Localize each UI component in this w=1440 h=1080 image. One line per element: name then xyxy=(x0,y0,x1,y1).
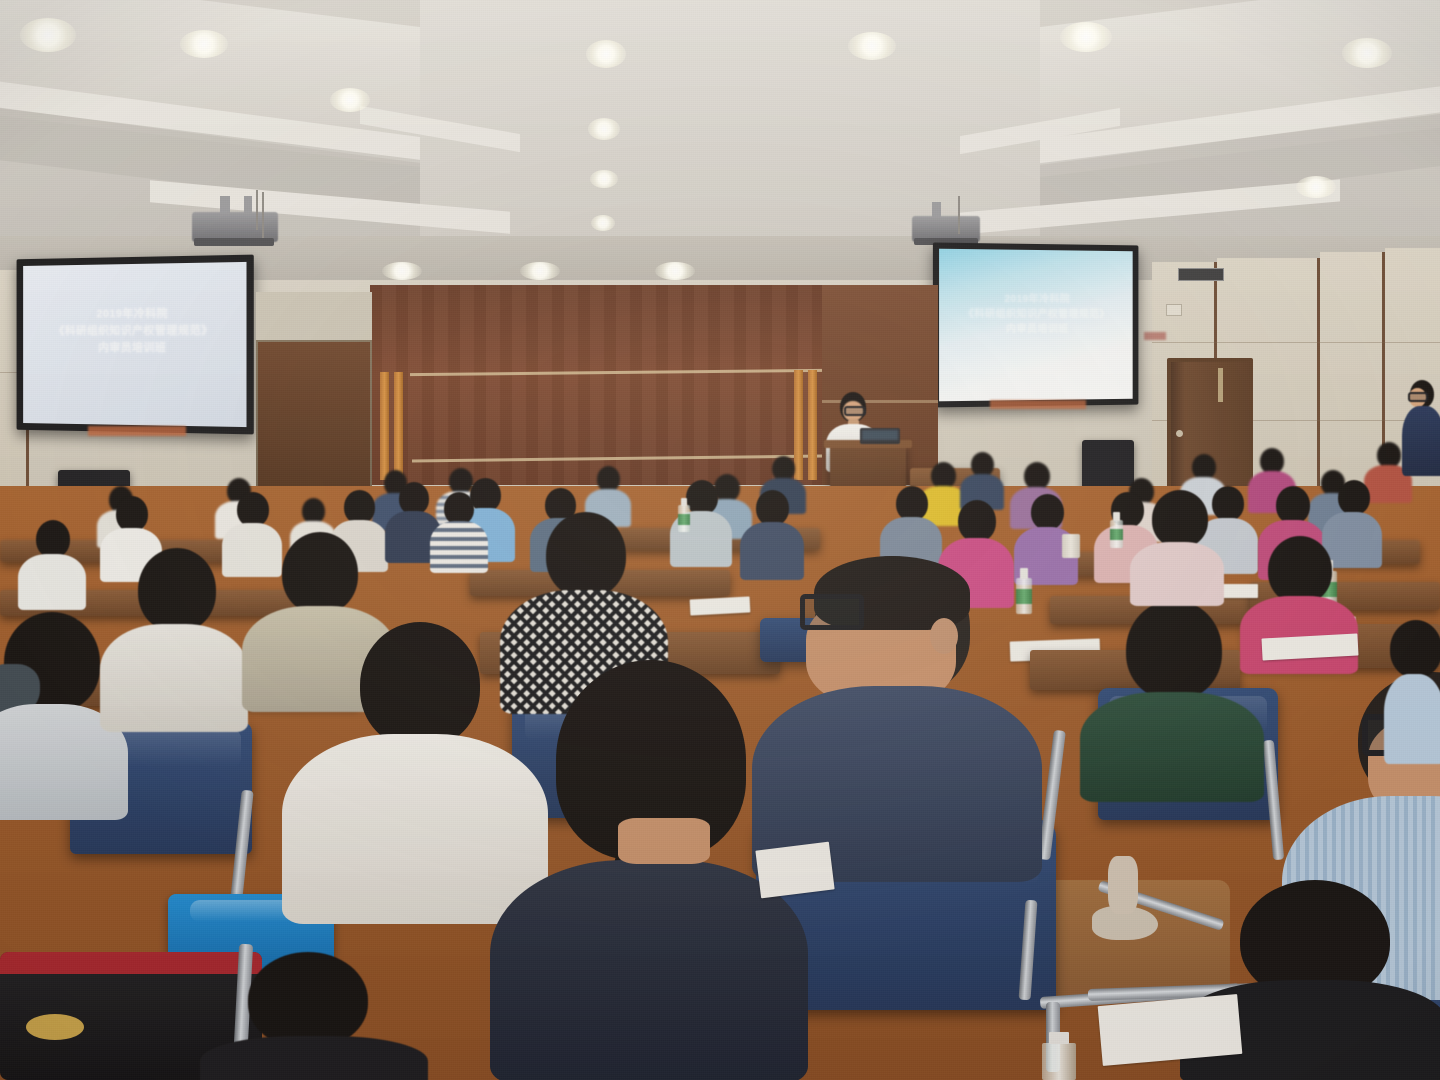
door-jamb-light xyxy=(1218,368,1223,402)
downlight-2 xyxy=(180,30,228,58)
attendee-n8-head xyxy=(1126,600,1222,700)
screen-right-orange-strip xyxy=(990,400,1086,409)
attendee-m17-head xyxy=(1338,480,1370,515)
wall-line-r1 xyxy=(1152,342,1440,343)
bottle-cap xyxy=(1049,1032,1068,1044)
stage-accent-column-left-a xyxy=(380,372,389,480)
attendee-n2-khaki xyxy=(100,548,250,728)
screen-right-line3: 内审员培训班 xyxy=(939,324,1133,337)
paper-foreground-left xyxy=(755,842,834,899)
attendee-m1 xyxy=(18,520,88,606)
attendee-m2-head xyxy=(116,496,148,532)
stage-accent-column-right-b xyxy=(808,370,817,480)
paper-foreground-right xyxy=(1098,994,1243,1066)
attendee-m7-body xyxy=(430,521,488,573)
bottle-cap xyxy=(1113,512,1120,521)
attendee-n8-green-right xyxy=(1080,600,1266,790)
attendee-m10-head xyxy=(756,490,789,526)
attendee-m13-head xyxy=(1031,494,1064,530)
attendee-m3-head xyxy=(237,492,269,527)
water-bottle-1 xyxy=(678,498,690,532)
attendee-m1-head xyxy=(36,520,70,558)
attendee-m4-head xyxy=(344,490,375,524)
projection-screen-left: 2019年冷科院 《科研组织知识产权管理规范》 内审员培训班 xyxy=(23,262,246,427)
door-knob-icon xyxy=(1176,430,1183,437)
screen-right-line2: 《科研组织知识产权管理规范》 xyxy=(939,309,1133,322)
attendee-n12-darkleft-bottom xyxy=(200,952,430,1080)
water-bottle-foreground xyxy=(1042,1032,1076,1080)
wall-left-of-stage-upper xyxy=(256,292,372,340)
attendee-n5-head xyxy=(360,622,480,748)
attendee-n12-head xyxy=(248,952,368,1048)
downlight-7 xyxy=(586,40,626,68)
screen-left-orange-strip xyxy=(88,426,186,436)
attendee-m9-head xyxy=(686,480,718,515)
attendee-n3-head xyxy=(282,532,358,614)
stage-left-dark-panel xyxy=(258,342,370,492)
attendee-n7-ear xyxy=(930,618,958,654)
stage-accent-column-left-b xyxy=(394,372,403,480)
wall-red-mark xyxy=(1144,332,1166,340)
ceiling-center-plane xyxy=(420,0,1040,240)
attendee-n13-head xyxy=(1390,620,1440,678)
attendee-n14-head xyxy=(1152,490,1208,548)
wall-sign xyxy=(1178,268,1224,281)
standing-attendee-shirt xyxy=(1402,406,1440,476)
attendee-m1-body xyxy=(18,554,86,610)
attendee-n14-shirt xyxy=(1130,542,1224,606)
projection-screen-left-frame: 2019年冷科院 《科研组织知识产权管理规范》 内审员培训班 xyxy=(17,255,254,435)
downlight-6 xyxy=(655,262,695,280)
attendee-n7-navy-glasses xyxy=(752,556,1044,876)
downlight-13 xyxy=(1342,38,1392,68)
screen-right-line1: 2019年冷科院 xyxy=(939,293,1133,306)
attendee-n13-shirt xyxy=(1384,674,1440,764)
attendee-n4-head xyxy=(546,512,626,598)
attendee-n7-glasses-icon xyxy=(800,594,864,630)
presenter-glasses-icon xyxy=(844,406,866,416)
attendee-n2-shirt xyxy=(100,624,248,732)
attendee-m7-stripe xyxy=(430,492,490,570)
projector-left xyxy=(192,212,278,252)
screen-left-line2: 《科研组织知识产权管理规范》 xyxy=(23,324,246,338)
wall-switch[interactable] xyxy=(1166,304,1182,316)
attendee-n8-shirt xyxy=(1080,692,1264,802)
attendee-n6-neck xyxy=(618,818,710,864)
conference-hall-photo: 2019年冷科院 《科研组织知识产权管理规范》 内审员培训班 2019年冷科院 … xyxy=(0,0,1440,1080)
attendee-n13-shoulder-right xyxy=(1384,620,1440,760)
bottle-body xyxy=(1042,1043,1076,1080)
screen-left-line3: 内审员培训班 xyxy=(23,342,246,356)
downlight-11 xyxy=(848,32,896,60)
downlight-4 xyxy=(382,262,422,280)
downlight-5 xyxy=(520,262,560,280)
projector-left-arm xyxy=(194,238,274,246)
downlight-10 xyxy=(591,215,615,231)
downlight-9 xyxy=(590,170,618,188)
downlight-1 xyxy=(20,18,76,52)
downlight-8 xyxy=(588,118,620,140)
paper-cup xyxy=(1062,534,1080,558)
attendee-n12-shirt xyxy=(200,1036,428,1080)
attendee-n2-head xyxy=(138,548,216,632)
bottle-label xyxy=(1110,529,1123,541)
projection-screen-right-frame: 2019年冷科院 《科研组织知识产权管理规范》 内审员培训班 xyxy=(933,243,1139,408)
standing-attendee-glasses-icon xyxy=(1408,392,1428,402)
attendee-n9-head xyxy=(1268,536,1332,604)
screen-left-line1: 2019年冷科院 xyxy=(23,307,246,322)
handbag-logo xyxy=(26,1014,84,1040)
attendee-f11-head xyxy=(1024,462,1050,490)
attendee-m16-head xyxy=(1276,486,1310,524)
attendee-leg xyxy=(1108,856,1138,914)
attendee-m12-head xyxy=(958,500,996,542)
laptop-screen-glow xyxy=(862,430,898,440)
attendee-m11-head xyxy=(896,486,928,521)
attendee-f9-head xyxy=(931,462,956,489)
attendee-n14-midright xyxy=(1130,490,1226,600)
downlight-3 xyxy=(330,88,370,112)
bottle-cap xyxy=(681,498,688,506)
downlight-12 xyxy=(1060,22,1112,52)
water-bottle-2 xyxy=(1110,512,1123,548)
downlight-14 xyxy=(1296,176,1336,198)
standing-attendee-right xyxy=(1400,380,1440,476)
projection-screen-right: 2019年冷科院 《科研组织知识产权管理规范》 内审员培训班 xyxy=(939,249,1133,402)
paper-stack-1 xyxy=(690,596,751,615)
bottle-label xyxy=(678,514,690,525)
